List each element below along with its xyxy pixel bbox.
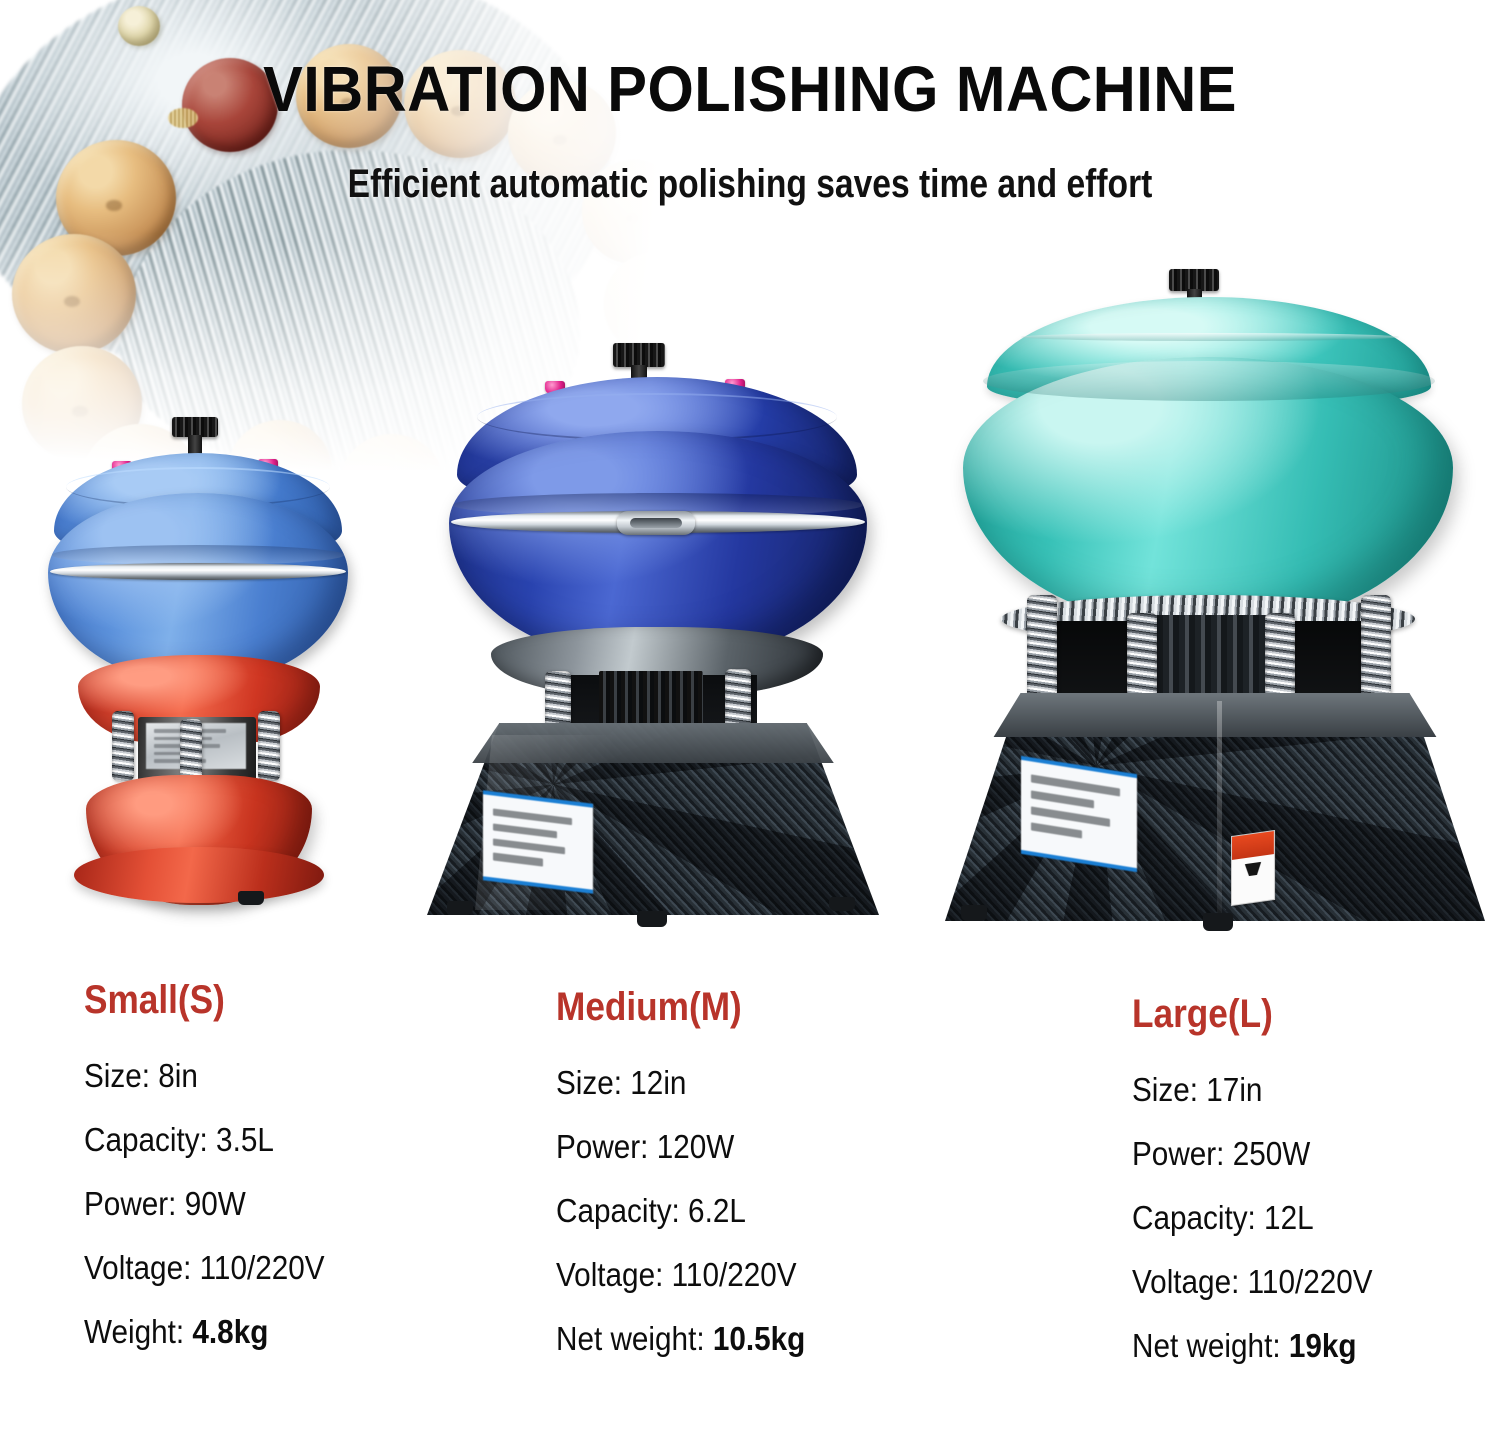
warning-pictogram-icon [1245, 861, 1262, 886]
spec-row: Capacity: 6.2L [556, 1192, 805, 1230]
spec-row: Weight: 4.8kg [84, 1313, 325, 1351]
spec-row: Power: 120W [556, 1128, 805, 1166]
spec-label: Voltage: [84, 1249, 191, 1286]
rubber-foot [961, 905, 987, 921]
lid-rim [983, 361, 1435, 401]
spec-label: Net weight: [556, 1320, 705, 1357]
spec-value: 8in [158, 1057, 198, 1094]
warning-sticker [1231, 830, 1275, 906]
spec-heading: Large(L) [1132, 992, 1367, 1037]
spec-label: Size: [556, 1064, 622, 1101]
spec-heading: Medium(M) [556, 985, 800, 1030]
spec-row: Voltage: 110/220V [556, 1256, 805, 1294]
spec-row: Voltage: 110/220V [84, 1249, 325, 1287]
spec-value: 19kg [1289, 1327, 1357, 1364]
spec-label: Net weight: [1132, 1327, 1281, 1364]
spec-row: Capacity: 3.5L [84, 1121, 325, 1159]
spec-label: Power: [556, 1128, 648, 1165]
spec-value: 6.2L [688, 1192, 746, 1229]
spec-column-small: Small(S) Size: 8in Capacity: 3.5L Power:… [84, 978, 351, 1377]
spec-column-large: Large(L) Size: 17in Power: 250W Capacity… [1132, 992, 1399, 1391]
spec-label: Capacity: [1132, 1199, 1256, 1236]
spec-value: 110/220V [200, 1249, 325, 1286]
spec-row: Power: 250W [1132, 1135, 1373, 1173]
spec-row: Size: 12in [556, 1064, 805, 1102]
spec-value: 12L [1264, 1199, 1314, 1236]
spec-value: 110/220V [1248, 1263, 1373, 1300]
suspension-spring [1361, 595, 1391, 707]
base-corner-highlight [1217, 701, 1222, 919]
spec-label: Voltage: [556, 1256, 663, 1293]
product-image-large [935, 265, 1495, 965]
suspension-spring [112, 711, 134, 781]
base-flange [74, 847, 324, 903]
spec-row: Voltage: 110/220V [1132, 1263, 1373, 1301]
rubber-foot [447, 901, 473, 915]
base-top-face [945, 693, 1485, 737]
spec-row: Size: 8in [84, 1057, 325, 1095]
spec-value: 17in [1206, 1071, 1262, 1108]
spec-row: Net weight: 19kg [1132, 1327, 1373, 1365]
lid-knob-icon [172, 417, 218, 437]
bowl-seam [52, 545, 344, 565]
spec-label-sticker [483, 790, 593, 894]
spec-value: 90W [185, 1185, 246, 1222]
spec-label: Weight: [84, 1313, 184, 1350]
lid-seam [1021, 333, 1399, 341]
suspension-spring [1027, 595, 1057, 707]
spec-value: 120W [657, 1128, 735, 1165]
chrome-clamp-band [50, 563, 346, 580]
product-image-small [30, 405, 360, 915]
rubber-foot [637, 911, 667, 927]
spec-label: Capacity: [556, 1192, 680, 1229]
spec-value: 4.8kg [192, 1313, 268, 1350]
page-title: VIBRATION POLISHING MACHINE [53, 52, 1448, 126]
spec-value: 250W [1233, 1135, 1311, 1172]
spec-label: Capacity: [84, 1121, 208, 1158]
product-image-medium [405, 335, 905, 960]
rubber-foot [829, 897, 855, 911]
clamp-latch-icon [617, 511, 695, 535]
spec-value: 12in [630, 1064, 686, 1101]
spec-row: Size: 17in [1132, 1071, 1373, 1109]
rubber-foot [238, 891, 264, 905]
spec-label-sticker [1021, 756, 1137, 872]
spec-value: 110/220V [672, 1256, 797, 1293]
suspension-spring [258, 711, 280, 781]
warning-band [1232, 831, 1274, 860]
lid-knob-icon [613, 343, 665, 367]
spec-label: Size: [1132, 1071, 1198, 1108]
rubber-foot [1203, 913, 1233, 931]
spec-label: Power: [1132, 1135, 1224, 1172]
spec-label: Size: [84, 1057, 150, 1094]
spec-label: Power: [84, 1185, 176, 1222]
page-subtitle: Efficient automatic polishing saves time… [120, 162, 1380, 207]
spec-heading: Small(S) [84, 978, 319, 1023]
spec-row: Capacity: 12L [1132, 1199, 1373, 1237]
spec-value: 3.5L [216, 1121, 274, 1158]
spec-label: Voltage: [1132, 1263, 1239, 1300]
spec-column-medium: Medium(M) Size: 12in Power: 120W Capacit… [556, 985, 833, 1384]
spec-row: Net weight: 10.5kg [556, 1320, 805, 1358]
spec-value: 10.5kg [713, 1320, 805, 1357]
spec-row: Power: 90W [84, 1185, 325, 1223]
lid-knob-icon [1169, 269, 1219, 291]
